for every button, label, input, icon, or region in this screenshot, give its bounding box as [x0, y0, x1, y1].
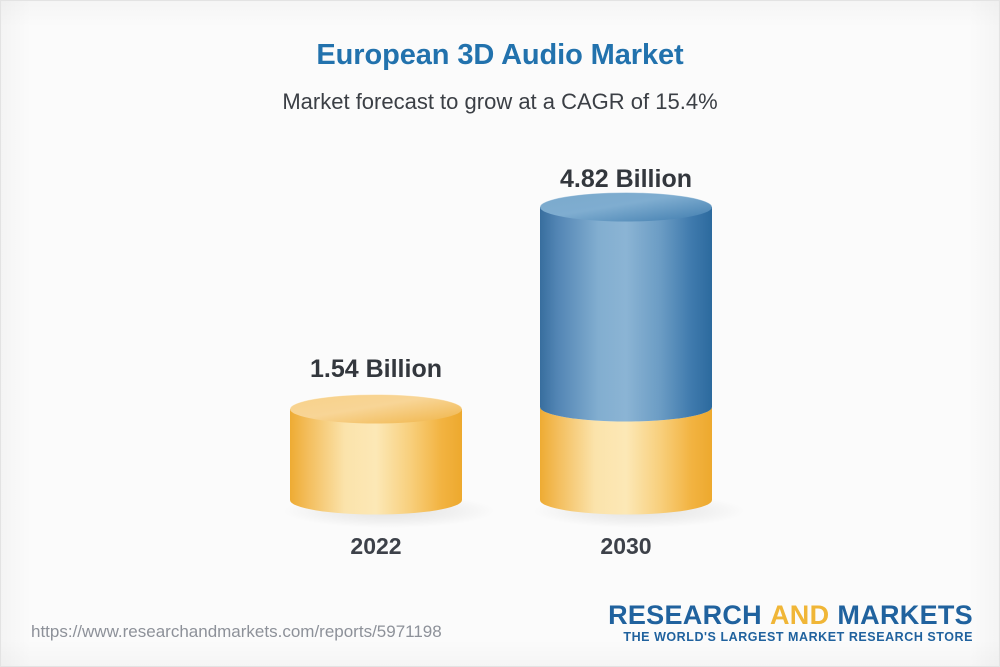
- research-and-markets-logo[interactable]: RESEARCHANDMARKETS THE WORLD'S LARGEST M…: [608, 601, 973, 647]
- logo-word-markets: MARKETS: [837, 600, 973, 630]
- category-label-2030: 2030: [540, 533, 712, 560]
- bar-cylinder-2022: [290, 395, 462, 515]
- bar-2030-body: [540, 207, 712, 422]
- bar-2030-base-segment: [540, 407, 712, 515]
- logo-wordmark: RESEARCHANDMARKETS: [608, 601, 973, 629]
- category-label-2022: 2022: [290, 533, 462, 560]
- logo-tagline: THE WORLD'S LARGEST MARKET RESEARCH STOR…: [608, 629, 973, 647]
- chart-plot-area: [1, 1, 1000, 667]
- bar-value-label-2030: 4.82 Billion: [540, 165, 712, 194]
- bar-value-label-2022: 1.54 Billion: [290, 355, 462, 384]
- chart-canvas: European 3D Audio Market Market forecast…: [0, 0, 1000, 667]
- logo-word-and: AND: [770, 600, 829, 630]
- source-url[interactable]: https://www.researchandmarkets.com/repor…: [31, 622, 442, 642]
- logo-word-research: RESEARCH: [608, 600, 762, 630]
- bar-2022-body: [290, 409, 462, 515]
- bar-cylinder-2030: [540, 193, 712, 515]
